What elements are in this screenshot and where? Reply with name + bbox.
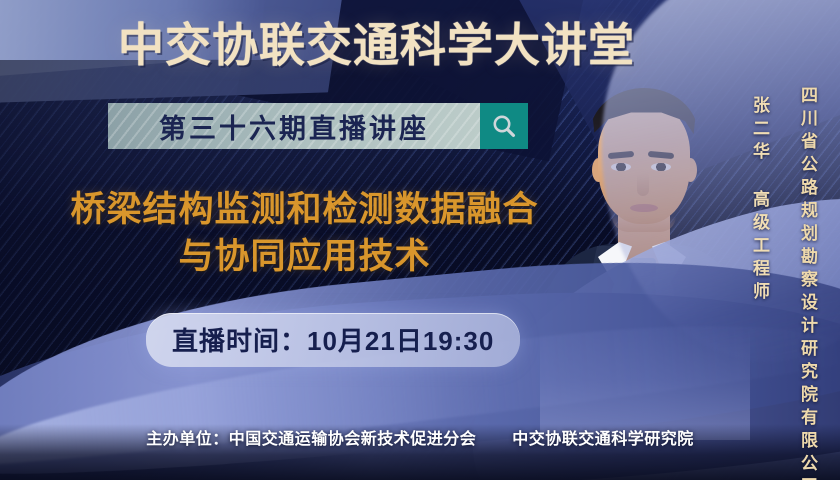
page-title: 中交协联交通科学大讲堂	[118, 16, 698, 74]
portrait-eye-right	[651, 163, 671, 171]
search-icon[interactable]	[480, 103, 528, 149]
portrait-nose	[637, 174, 649, 196]
portrait-mouth	[630, 204, 658, 212]
portrait-tie-knot	[630, 258, 656, 278]
topic-line-2: 与协同应用技术	[52, 233, 557, 280]
topic-title: 桥梁结构监测和检测数据融合 与协同应用技术	[52, 186, 557, 280]
live-time-badge: 直播时间：10月21日19:30	[146, 313, 520, 367]
portrait-eye-left	[611, 163, 631, 171]
topic-line-1: 桥梁结构监测和检测数据融合	[70, 190, 538, 229]
footer-organizer-primary: 主办单位：中国交通运输协会新技术促进分会	[146, 431, 476, 448]
speaker-organization: 四川省公路规划勘察设计研究院有限公司	[795, 86, 820, 480]
footer-organizer-secondary: 中交协联交通科学研究院	[512, 431, 694, 448]
speaker-name-title: 张二华 高级工程师	[747, 96, 772, 305]
episode-banner-label: 第三十六期直播讲座	[159, 107, 429, 146]
portrait-chin	[612, 216, 676, 232]
episode-banner: 第三十六期直播讲座	[108, 103, 528, 149]
episode-banner-body: 第三十六期直播讲座	[108, 103, 480, 149]
footer-organizers: 主办单位：中国交通运输协会新技术促进分会 中交协联交通科学研究院	[0, 425, 840, 449]
webinar-poster: 中交协联交通科学大讲堂 第三十六期直播讲座 桥梁结构监测和检测数据融合 与协同应…	[0, 0, 840, 480]
